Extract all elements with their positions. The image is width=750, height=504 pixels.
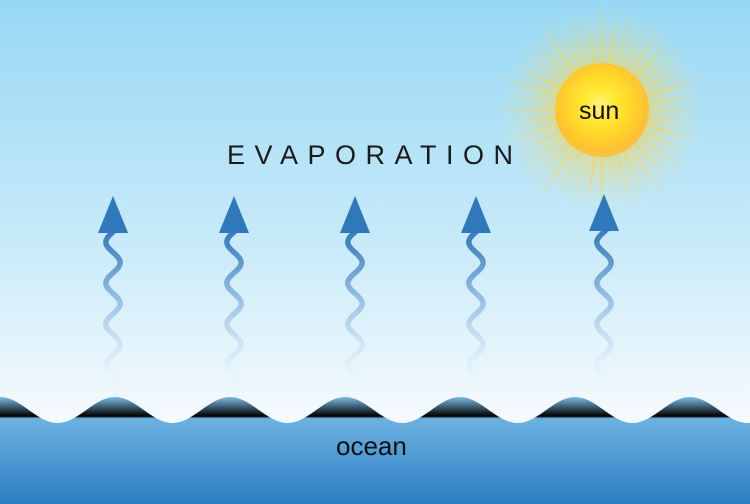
evaporation-diagram: EVAPORATION sun ocean [0, 0, 750, 504]
evaporation-label: EVAPORATION [227, 140, 523, 171]
ocean-svg [0, 0, 750, 504]
ocean-label: ocean [336, 431, 407, 462]
sun-label: sun [579, 97, 619, 126]
ocean-graphic [0, 0, 750, 504]
